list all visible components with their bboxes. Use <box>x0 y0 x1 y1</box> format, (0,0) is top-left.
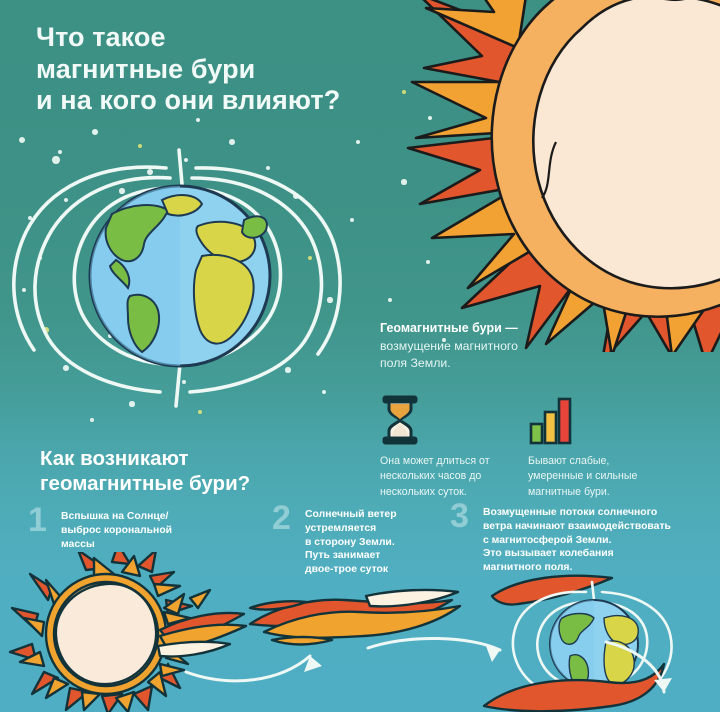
fact-intensity: Бывают слабые, умеренные и сильные магни… <box>528 393 676 499</box>
step-1: 1 Вспышка на Солнце/ выброс корональной … <box>28 510 208 551</box>
star-dot <box>388 298 392 302</box>
step-1-text: Вспышка на Солнце/ выброс корональной ма… <box>61 510 172 551</box>
page-title: Что такое магнитные бури и на кого они в… <box>36 22 456 117</box>
headline-line-2: магнитные бури <box>36 54 456 86</box>
step-line: ветра начинают взаимодействовать <box>483 520 671 534</box>
step-line: двое-трое суток <box>305 563 397 577</box>
step-line: в сторону Земли. <box>305 536 397 550</box>
fact-duration-caption: Она может длиться от нескольких часов до… <box>380 454 528 499</box>
caption-line: Бывают слабые, <box>528 454 676 469</box>
star-dot <box>356 140 360 144</box>
step-3-text: Возмущенные потоки солнечного ветра начи… <box>483 506 671 575</box>
definition-facts: Она может длиться от нескольких часов до… <box>380 393 700 499</box>
how-section-title: Как возникают геомагнитные бури? <box>40 446 370 496</box>
definition-title: Геомагнитные бури — <box>380 320 700 337</box>
how-title-line-2: геомагнитные бури? <box>40 471 370 496</box>
step-line: Путь занимает <box>305 549 397 563</box>
how-title-line-1: Как возникают <box>40 446 370 471</box>
fact-duration: Она может длиться от нескольких часов до… <box>380 393 528 499</box>
step-line: Солнечный ветер <box>305 508 397 522</box>
caption-line: магнитные бури. <box>528 485 676 500</box>
step-line: массы <box>61 538 172 552</box>
star-dot <box>196 118 200 122</box>
definition-subtitle-line-2: поля Земли. <box>380 355 700 372</box>
star-dot <box>19 137 26 144</box>
bar-chart-icon <box>528 393 676 445</box>
step-line: Вспышка на Солнце/ <box>61 510 172 524</box>
step-line: устремляется <box>305 522 397 536</box>
headline-line-1: Что такое <box>36 22 456 54</box>
step-line: магнитного поля. <box>483 561 671 575</box>
step-3-number: 3 <box>450 502 474 575</box>
caption-line: умеренные и сильные <box>528 469 676 484</box>
infographic-poster: Что такое магнитные бури и на кого они в… <box>0 0 720 712</box>
step-line: выброс корональной <box>61 524 172 538</box>
step-2-number: 2 <box>272 504 296 577</box>
step-1-number: 1 <box>28 506 52 551</box>
step-line: Это вызывает колебания <box>483 547 671 561</box>
definition-block: Геомагнитные бури — возмущение магнитног… <box>380 320 700 500</box>
caption-line: нескольких часов до <box>380 469 528 484</box>
fact-intensity-caption: Бывают слабые, умеренные и сильные магни… <box>528 454 676 499</box>
headline-line-3: и на кого они влияют? <box>36 85 456 117</box>
step-2: 2 Солнечный ветер устремляется в сторону… <box>272 508 447 577</box>
caption-line: Она может длиться от <box>380 454 528 469</box>
definition-subtitle-line-1: возмущение магнитного <box>380 338 700 355</box>
hourglass-icon <box>380 393 528 445</box>
flow-arrows <box>0 600 720 712</box>
step-line: Возмущенные потоки солнечного <box>483 506 671 520</box>
step-2-text: Солнечный ветер устремляется в сторону З… <box>305 508 397 577</box>
earth-with-magnetic-field-illustration <box>12 148 342 428</box>
star-dot <box>350 218 355 223</box>
step-3: 3 Возмущенные потоки солнечного ветра на… <box>450 506 712 575</box>
star-dot <box>229 139 235 145</box>
star-dot <box>92 129 98 135</box>
step-line: с магнитосферой Земли. <box>483 534 671 548</box>
